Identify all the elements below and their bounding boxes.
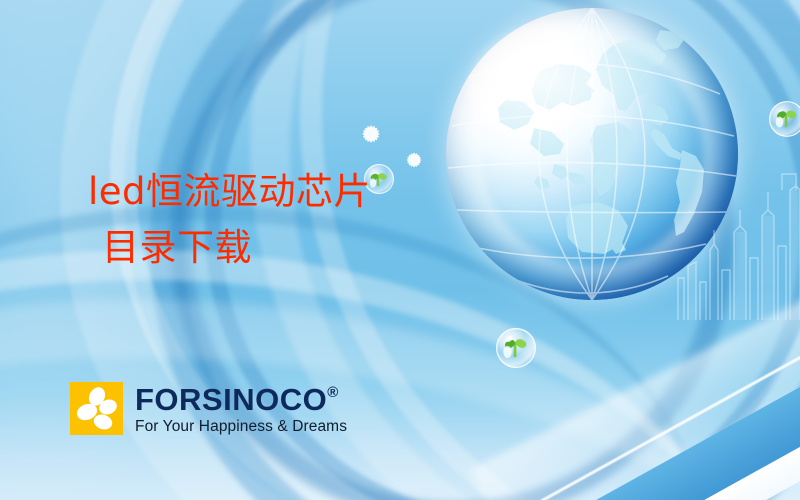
headline-line-1: led恒流驱动芯片 (88, 170, 371, 213)
brand-name-row: FORSINOCO® (135, 384, 347, 416)
brand-lockup-text: FORSINOCO® For Your Happiness & Dreams (135, 382, 347, 436)
brand-name: FORSINOCO (135, 384, 327, 416)
brand-logo: FORSINOCO® For Your Happiness & Dreams (70, 382, 347, 436)
bubble-right-sprout-icon (768, 100, 800, 138)
headline-line-2: 目录下载 (88, 220, 371, 276)
banner-image: led恒流驱动芯片目录下载 FORSINOCO® For Your Happin… (0, 0, 800, 500)
forsinoco-pinwheel-mark-icon (70, 382, 123, 435)
sparkle-flower-lower-icon (402, 148, 426, 172)
headline-text: led恒流驱动芯片目录下载 (88, 164, 371, 276)
city-skyline-silhouette (670, 170, 800, 320)
sparkle-flower-upper-icon (357, 120, 385, 148)
bubble-bottom-sprout-icon (495, 327, 537, 369)
brand-tagline: For Your Happiness & Dreams (135, 418, 347, 436)
pinwheel-petals-icon (70, 382, 123, 435)
registered-trademark-symbol: ® (327, 385, 339, 400)
